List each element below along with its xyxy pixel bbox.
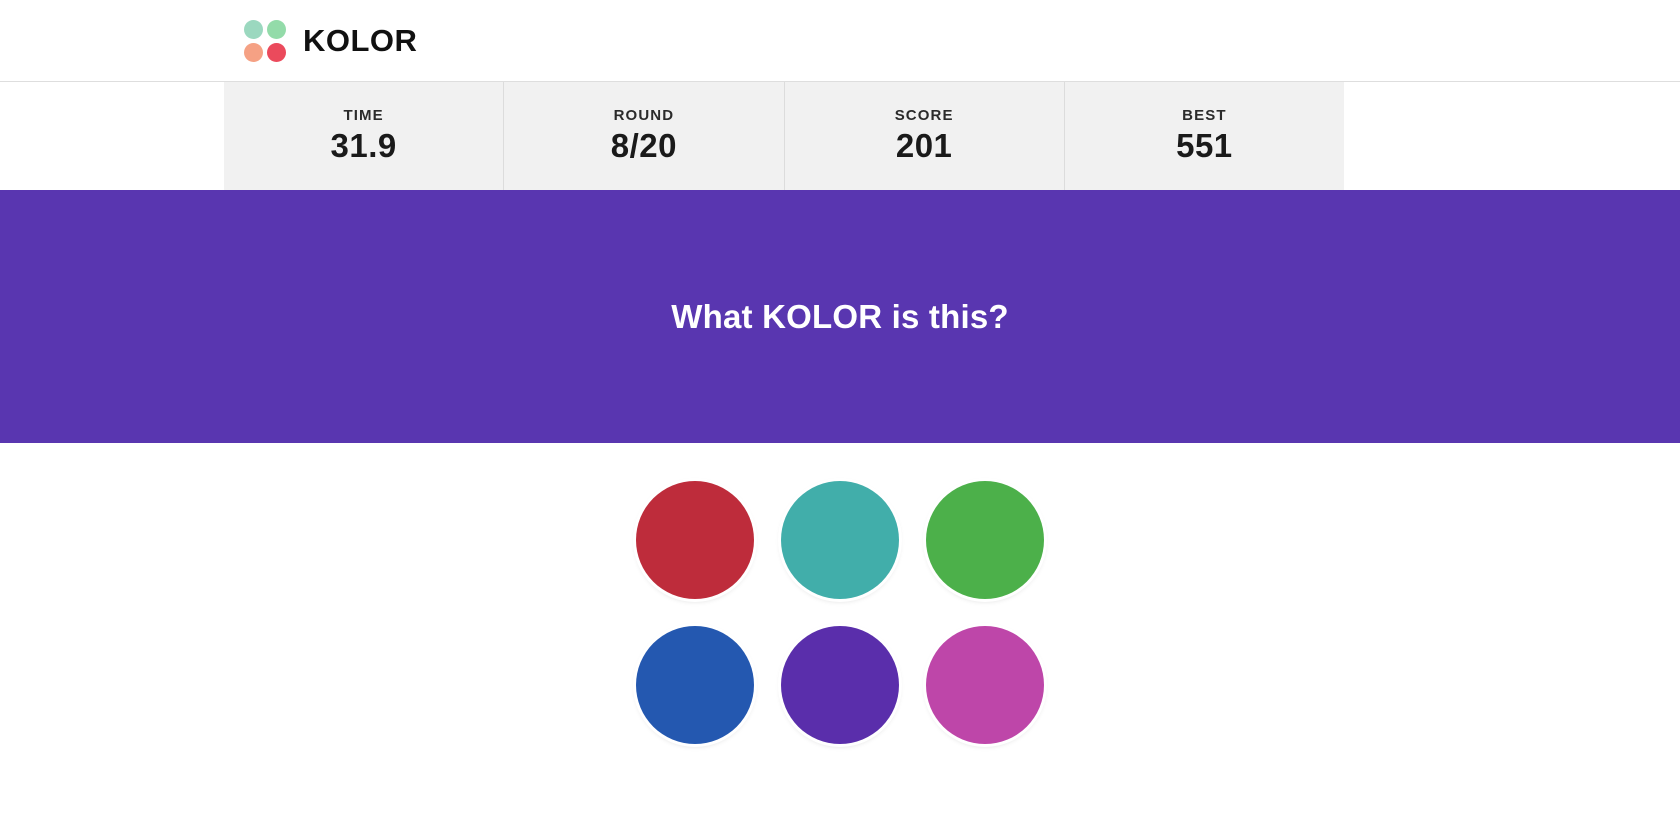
- brand-logo[interactable]: KOLOR: [244, 20, 417, 62]
- swatch-purple[interactable]: [781, 626, 899, 744]
- stats-panel: TIME 31.9 ROUND 8/20 SCORE 201 BEST 551: [224, 82, 1344, 190]
- stat-round-value: 8/20: [611, 128, 677, 164]
- stat-score-label: SCORE: [895, 107, 954, 124]
- logo-dot-top-left: [244, 20, 263, 39]
- stat-time-value: 31.9: [331, 128, 397, 164]
- answer-area: [0, 443, 1680, 840]
- stat-round: ROUND 8/20: [504, 82, 784, 190]
- kolor-game-page: KOLOR TIME 31.9 ROUND 8/20 SCORE 201 BES…: [0, 0, 1680, 840]
- question-prompt: What KOLOR is this?: [671, 298, 1009, 336]
- stat-score: SCORE 201: [785, 82, 1065, 190]
- question-suffix: is this?: [882, 298, 1009, 335]
- four-dots-icon: [244, 20, 286, 62]
- swatch-red[interactable]: [636, 481, 754, 599]
- stat-best-value: 551: [1176, 128, 1233, 164]
- stat-score-value: 201: [896, 128, 953, 164]
- swatch-grid: [636, 481, 1044, 840]
- logo-dot-bottom-left: [244, 43, 263, 62]
- swatch-blue[interactable]: [636, 626, 754, 744]
- stat-round-label: ROUND: [614, 107, 675, 124]
- swatch-green[interactable]: [926, 481, 1044, 599]
- stat-time: TIME 31.9: [224, 82, 504, 190]
- stat-best: BEST 551: [1065, 82, 1344, 190]
- swatch-magenta[interactable]: [926, 626, 1044, 744]
- question-prefix: What: [671, 298, 762, 335]
- question-banner: What KOLOR is this?: [0, 190, 1680, 443]
- logo-dot-bottom-right: [267, 43, 286, 62]
- stat-time-label: TIME: [344, 107, 384, 124]
- swatch-teal[interactable]: [781, 481, 899, 599]
- stats-bar: TIME 31.9 ROUND 8/20 SCORE 201 BEST 551: [0, 82, 1680, 190]
- site-header: KOLOR: [0, 0, 1680, 82]
- brand-name: KOLOR: [303, 25, 417, 56]
- stat-best-label: BEST: [1182, 107, 1226, 124]
- question-keyword: KOLOR: [762, 298, 882, 335]
- logo-dot-top-right: [267, 20, 286, 39]
